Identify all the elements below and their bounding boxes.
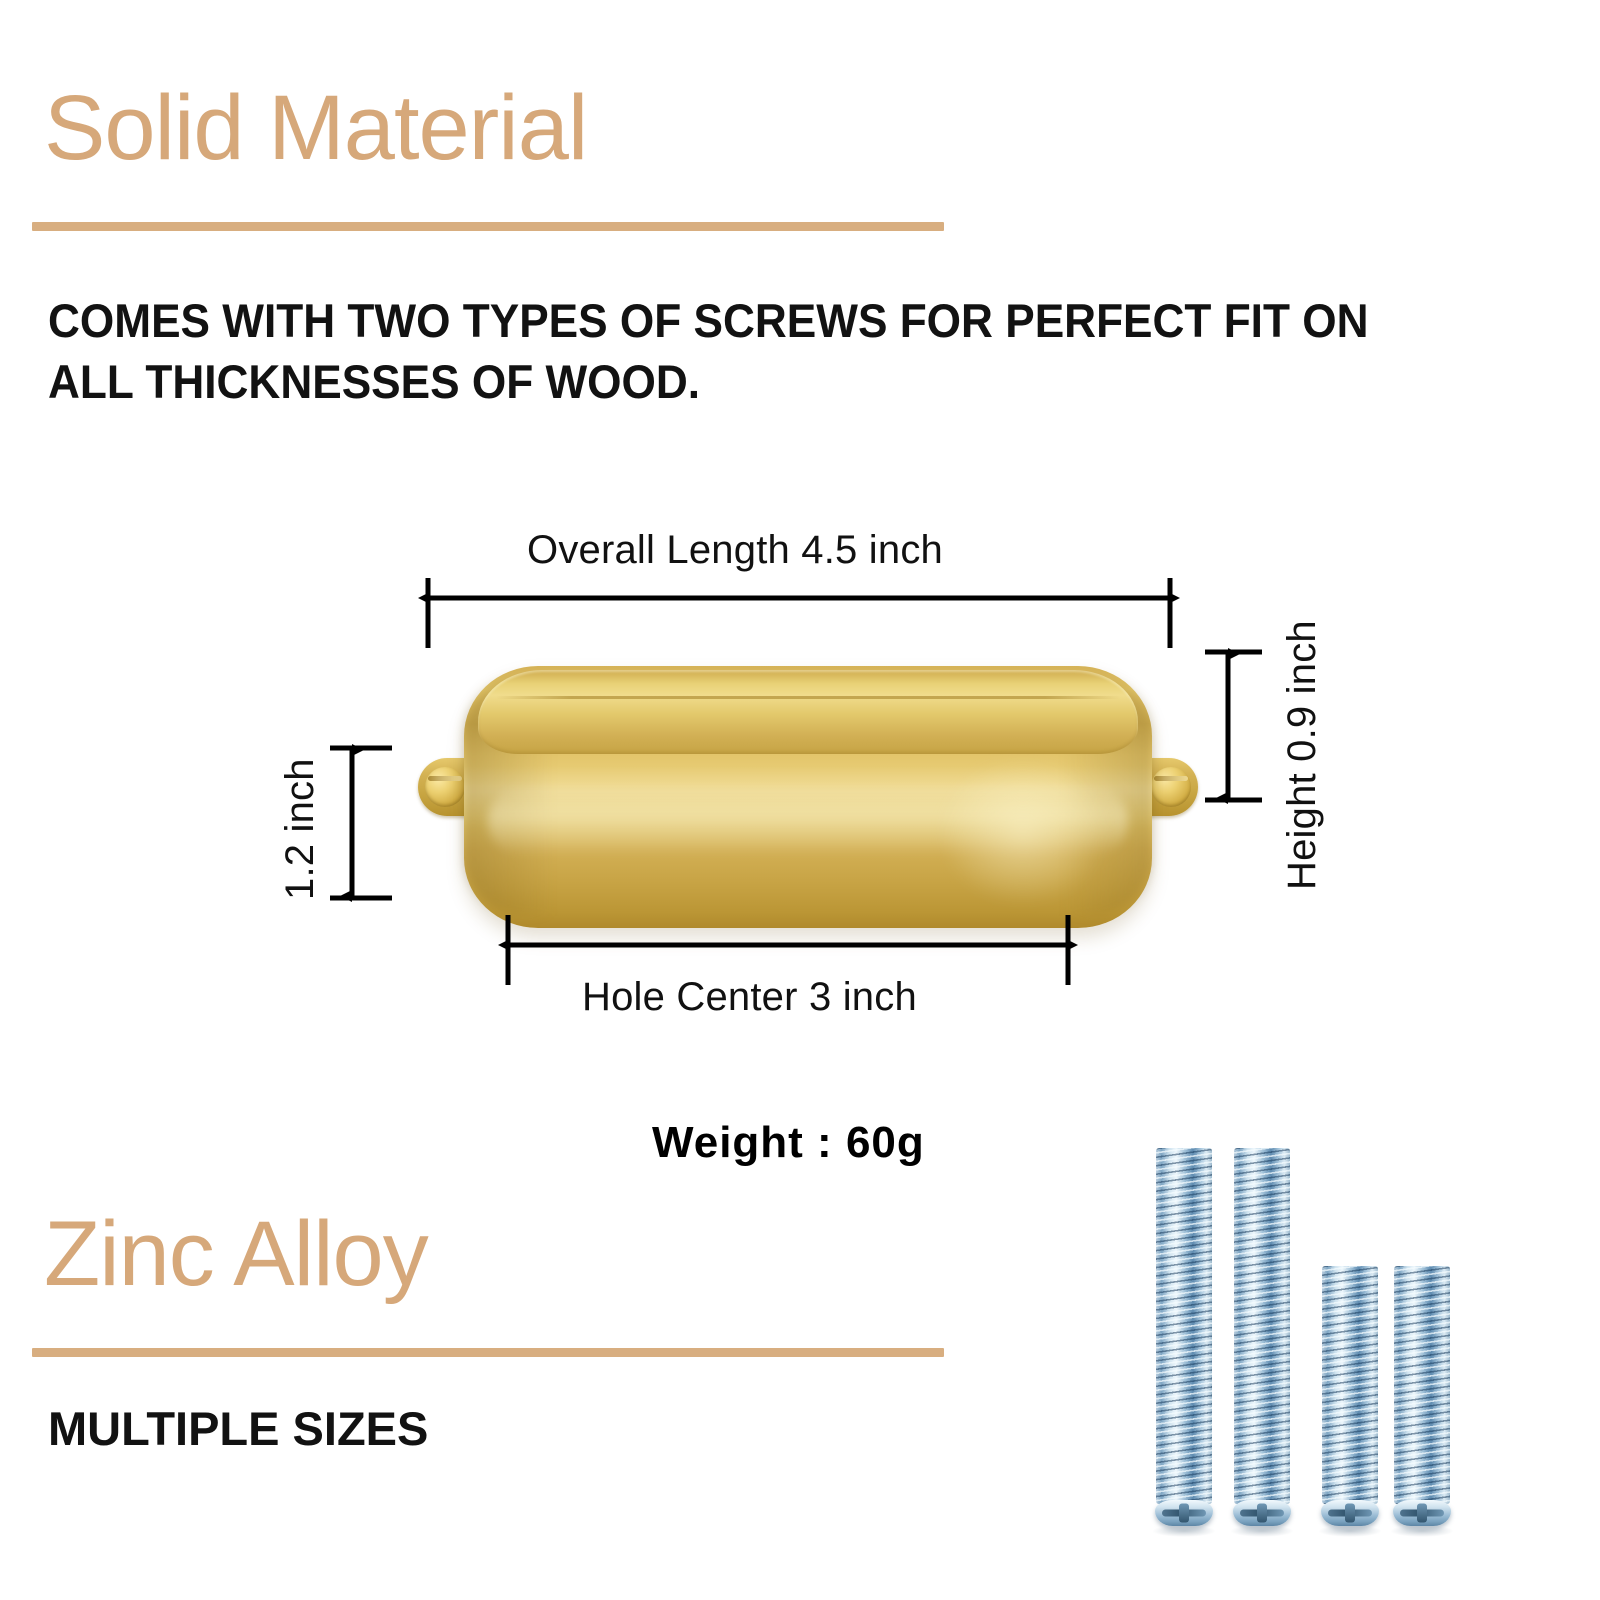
heading-divider-bottom <box>32 1348 944 1357</box>
screw-shank <box>1234 1148 1290 1504</box>
screw-head-left <box>425 767 465 807</box>
screw-drive-cross <box>1257 1504 1267 1523</box>
long-screw-2 <box>1234 1148 1290 1530</box>
heading-divider-top <box>32 222 944 231</box>
short-screw-2 <box>1394 1266 1450 1530</box>
short-screw-1 <box>1322 1266 1378 1530</box>
screw-drive-cross <box>1345 1504 1355 1523</box>
screw-shadow <box>1152 1525 1216 1537</box>
screw-head <box>1321 1500 1379 1526</box>
screw-shadow <box>1230 1525 1294 1537</box>
screw-shank <box>1156 1148 1212 1504</box>
screw-shadow <box>1318 1525 1382 1537</box>
screw-head <box>1393 1500 1451 1526</box>
screw-slot-right <box>1154 776 1188 781</box>
screw-drive-cross <box>1417 1504 1427 1523</box>
weight-label: Weight : 60g <box>652 1118 925 1168</box>
dimension-label-projection: 1.2 inch <box>278 758 323 900</box>
screw-shank <box>1394 1266 1450 1504</box>
dimension-label-overall-length: Overall Length 4.5 inch <box>527 528 943 573</box>
screw-shank <box>1322 1266 1378 1504</box>
screw-head-right <box>1151 767 1191 807</box>
long-screw-1 <box>1156 1148 1212 1530</box>
screw-head <box>1155 1500 1213 1526</box>
section-heading-solid-material: Solid Material <box>44 82 587 174</box>
cup-pull-handle-image <box>418 636 1198 936</box>
handle-specular-highlight <box>938 756 1108 906</box>
screw-head <box>1233 1500 1291 1526</box>
screw-slot-left <box>428 776 462 781</box>
screw-shadow <box>1390 1525 1454 1537</box>
section-heading-zinc-alloy: Zinc Alloy <box>44 1208 428 1300</box>
product-infographic: Solid Material COMES WITH TWO TYPES OF S… <box>0 0 1600 1600</box>
dimension-label-hole-center: Hole Center 3 inch <box>582 975 917 1020</box>
screw-drive-cross <box>1179 1504 1189 1523</box>
dimension-label-height: Height 0.9 inch <box>1280 620 1325 890</box>
handle-top-lip <box>478 670 1138 754</box>
feature-text-screws: COMES WITH TWO TYPES OF SCREWS FOR PERFE… <box>48 290 1411 412</box>
handle-lip-groove <box>496 696 1120 699</box>
feature-text-multiple-sizes: MULTIPLE SIZES <box>48 1398 948 1459</box>
